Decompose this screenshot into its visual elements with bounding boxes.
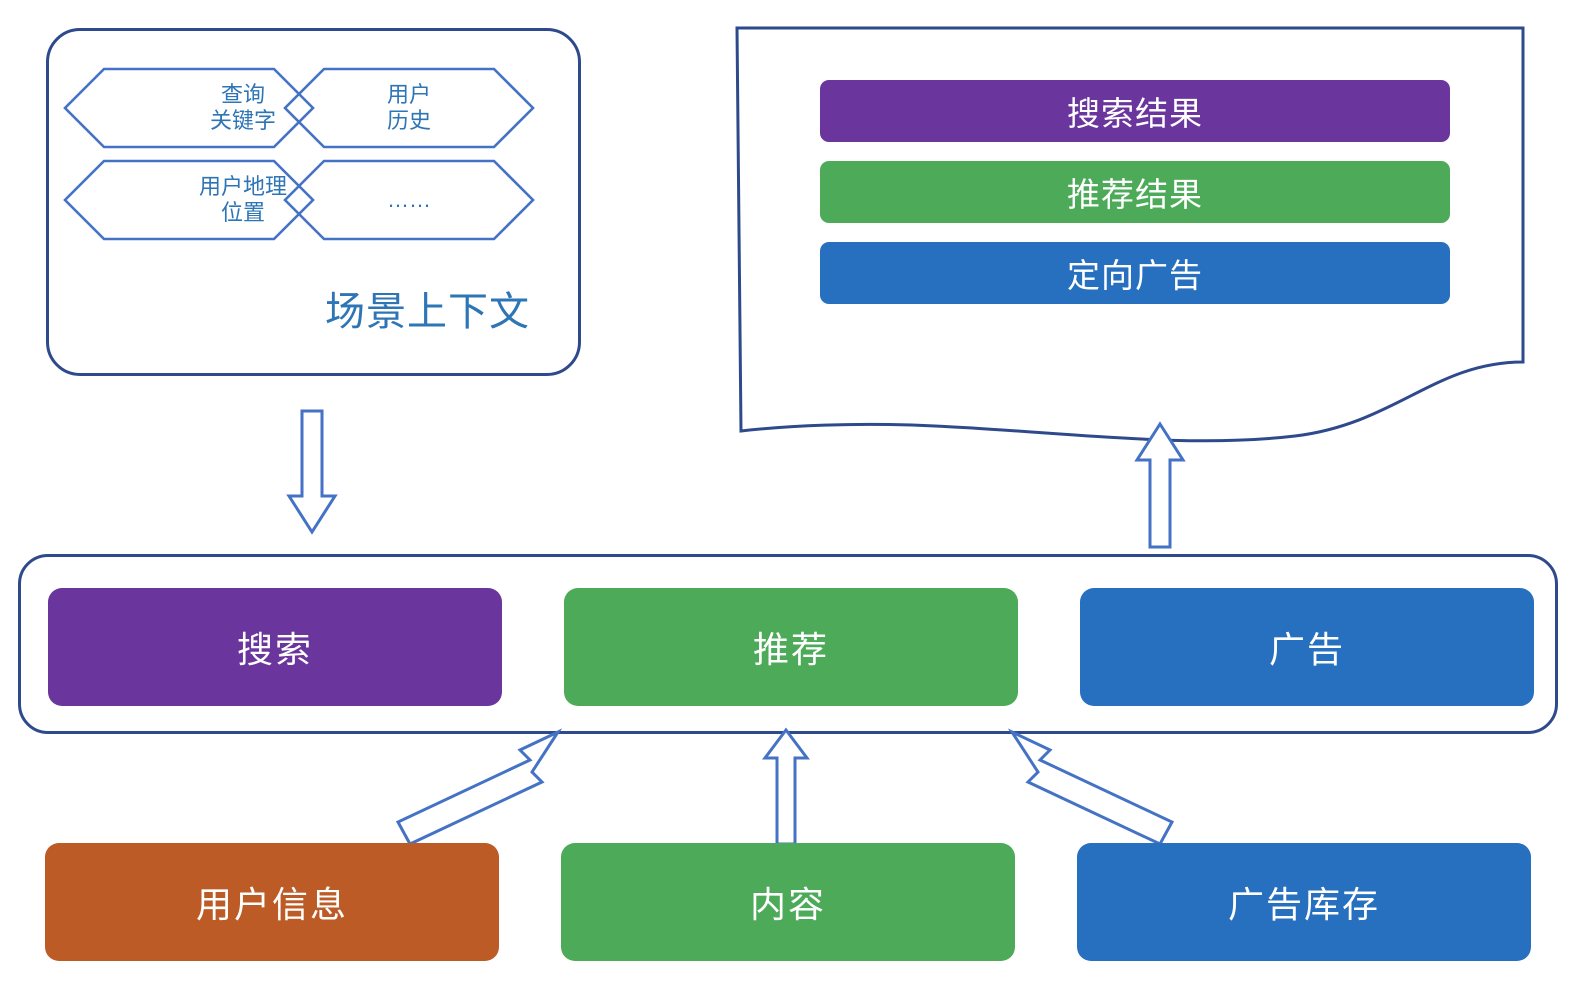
result-item-label: 推荐结果 <box>1067 168 1203 216</box>
arrow-services-to-results <box>1134 420 1186 550</box>
source-card-ad-inventory[interactable]: 广告库存 <box>1077 843 1531 961</box>
scene-context-panel: 查询 关键字 用户 历史 用户地理 位置 <box>46 28 581 376</box>
data-sources-row: 用户信息 内容 广告库存 <box>45 843 1531 961</box>
diagonal-up-right-arrow-icon <box>392 726 578 848</box>
arrow-scene-to-services <box>286 408 338 536</box>
scene-item-query-keyword[interactable]: 查询 关键字 <box>63 67 315 149</box>
source-card-label: 用户信息 <box>196 876 348 928</box>
up-arrow-icon <box>1134 420 1186 550</box>
result-item-label: 定向广告 <box>1067 249 1203 297</box>
source-card-label: 内容 <box>750 876 826 928</box>
result-item-recommendation[interactable]: 推荐结果 <box>820 161 1450 223</box>
source-card-content[interactable]: 内容 <box>561 843 1015 961</box>
scene-context-title: 场景上下文 <box>325 279 530 337</box>
service-card-recommendation[interactable]: 推荐 <box>564 588 1018 706</box>
services-panel: 搜索 推荐 广告 <box>18 554 1558 734</box>
arrow-adinventory-to-services <box>992 726 1178 848</box>
service-card-label: 搜索 <box>237 621 313 673</box>
scene-item-user-geolocation[interactable]: 用户地理 位置 <box>63 159 315 241</box>
result-item-search[interactable]: 搜索结果 <box>820 80 1450 142</box>
hexagon-shape <box>283 159 535 241</box>
source-card-user-info[interactable]: 用户信息 <box>45 843 499 961</box>
results-list: 搜索结果 推荐结果 定向广告 <box>820 80 1450 304</box>
service-card-label: 推荐 <box>753 621 829 673</box>
down-arrow-icon <box>286 408 338 536</box>
service-card-advertising[interactable]: 广告 <box>1080 588 1534 706</box>
services-row: 搜索 推荐 广告 <box>48 588 1534 706</box>
scene-item-ellipsis[interactable]: …… <box>283 159 535 241</box>
diagram-canvas: 查询 关键字 用户 历史 用户地理 位置 <box>0 0 1576 988</box>
result-item-label: 搜索结果 <box>1067 87 1203 135</box>
scene-item-user-history[interactable]: 用户 历史 <box>283 67 535 149</box>
diagonal-up-left-arrow-icon <box>992 726 1178 848</box>
hexagon-shape <box>63 159 315 241</box>
result-item-targeted-ad[interactable]: 定向广告 <box>820 242 1450 304</box>
arrow-content-to-services <box>762 726 810 846</box>
hexagon-shape <box>283 67 535 149</box>
source-card-label: 广告库存 <box>1228 876 1380 928</box>
arrow-userinfo-to-services <box>392 726 578 848</box>
service-card-label: 广告 <box>1269 621 1345 673</box>
hexagon-shape <box>63 67 315 149</box>
results-document-panel: 搜索结果 推荐结果 定向广告 <box>735 26 1525 446</box>
up-arrow-icon <box>762 726 810 846</box>
service-card-search[interactable]: 搜索 <box>48 588 502 706</box>
